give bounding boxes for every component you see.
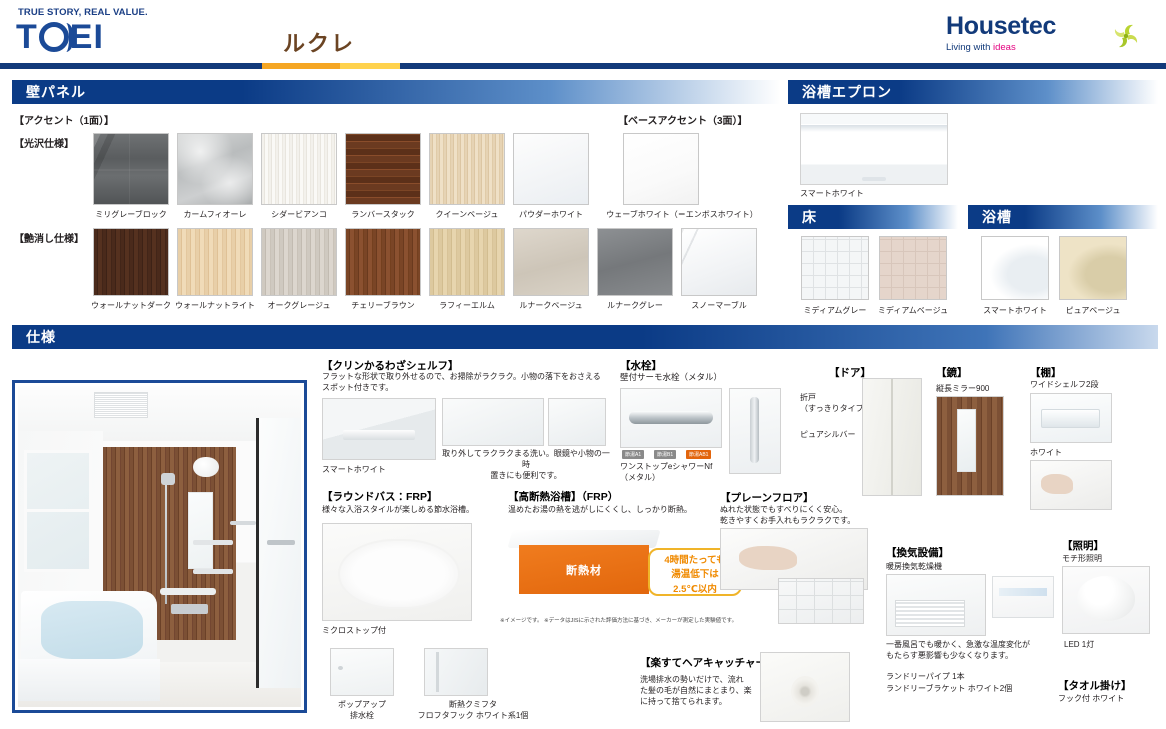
header-divider: [0, 63, 1166, 69]
section-header-bath-apron: 浴槽エプロン: [788, 80, 1158, 104]
toei-logo-suffix: EI: [70, 20, 104, 54]
bathroom-render: [18, 386, 301, 707]
rack-color-label: ホワイト: [1030, 448, 1062, 459]
swatch-gloss-0-label: ミリグレーブロック: [83, 209, 179, 220]
shelf-title: 【クリンかるわざシェルフ】: [322, 358, 459, 373]
plain-floor-desc: ぬれた状態でもすべりにくく安心。 乾きやすくお手入れもラクラクです。: [720, 505, 855, 527]
render-towel-bar: [230, 521, 255, 525]
render-faucet: [171, 604, 208, 614]
swatch-gloss-1[interactable]: [177, 133, 253, 205]
popup-drain-caption: ポップアップ 排水栓: [320, 699, 404, 721]
ventilation-desc: 一番風呂でも暖かく、急激な温度変化が もたらす悪影響も少なくなります。: [886, 640, 1030, 662]
swatch-matte-3-label: チェリーブラウン: [335, 300, 431, 311]
faucet-subtitle: 壁付サーモ水栓（メタル）: [620, 372, 722, 383]
insulated-tub-label: 断熱材: [510, 562, 658, 578]
insulated-lid-caption: 断熱クミフタ フロフタフック ホワイト系1個: [398, 699, 548, 721]
render-mirror: [188, 492, 213, 569]
swatch-gloss-4[interactable]: [429, 133, 505, 205]
plain-floor-title: 【プレーンフロア】: [720, 490, 814, 505]
swatch-matte-base-0-label: スノーマーブル: [671, 300, 767, 311]
faucet-shower-label: ワンストップeシャワーNf （メタル）: [620, 462, 712, 484]
swatch-gloss-4-label: クイーンベージュ: [419, 209, 515, 220]
render-shelf-upper: [193, 540, 233, 545]
series-title: ルクレ: [283, 26, 355, 58]
swatch-matte-6-label: ルナークグレー: [587, 300, 683, 311]
rack-name-label: ワイドシェルフ2段: [1030, 380, 1098, 391]
render-door-handle: [267, 540, 295, 544]
swatch-gloss-5[interactable]: [513, 133, 589, 205]
swatch-gloss-base-0[interactable]: [623, 133, 699, 205]
ventilation-accessory-1: ランドリーパイプ 1本: [886, 672, 965, 683]
shelf-photo-detail-1[interactable]: [442, 398, 544, 446]
swatch-bathtub-1-label: ピュアベージュ: [1049, 305, 1137, 316]
towel-title: 【タオル掛け】: [1058, 678, 1132, 693]
lighting-spec: LED 1灯: [1064, 640, 1094, 651]
shelf-color-label: スマートホワイト: [322, 464, 386, 475]
popup-drain-photo[interactable]: [330, 648, 394, 696]
door-type-label: 折戸 （すっきりタイプ）: [800, 393, 872, 415]
toei-logo: T EI: [16, 20, 104, 54]
housetec-pinwheel-icon: [1106, 16, 1146, 56]
swatch-matte-4-label: ラフィーエルム: [419, 300, 515, 311]
matte-label: 【艶消し仕様】: [14, 230, 84, 245]
toei-logo-o-icon: [39, 22, 69, 52]
swatch-gloss-1-label: カームフィオーレ: [167, 209, 263, 220]
round-bath-desc: 様々な入浴スタイルが楽しめる節水浴槽。: [322, 505, 474, 516]
round-bath-title: 【ラウンドバス：FRP】: [322, 489, 438, 504]
swatch-matte-5[interactable]: [513, 228, 589, 296]
render-ceiling-vent: [94, 392, 148, 418]
insulated-tub-illustration: 断熱材: [510, 530, 658, 600]
swatch-gloss-0[interactable]: [93, 133, 169, 205]
shelf-desc: フラットな形状で取り外せるので、お掃除がラクラク。小物の落下をおさえる スポット…: [322, 372, 618, 394]
swatch-floor-1[interactable]: [879, 236, 947, 300]
mirror-photo[interactable]: [936, 396, 1004, 496]
faucet-chip-1: 節湯B1: [654, 450, 676, 459]
apron-label: スマートホワイト: [800, 188, 864, 199]
swatch-matte-4[interactable]: [429, 228, 505, 296]
round-bath-caption: ミクロストップ付: [322, 625, 386, 636]
swatch-matte-6[interactable]: [597, 228, 673, 296]
insulated-footnote: ※イメージです。 ※データはJISに示された評価方法に基づき、メーカーが測定した…: [500, 617, 737, 625]
bathroom-render-frame[interactable]: [12, 380, 307, 713]
insulated-desc: 温めたお湯の熱を逃がしにくくし、しっかり断熱。: [508, 505, 692, 516]
round-bath-photo[interactable]: [322, 523, 472, 621]
hair-catcher-photo[interactable]: [760, 652, 850, 722]
ventilation-title: 【換気設備】: [886, 545, 949, 560]
gloss-label: 【光沢仕様】: [14, 135, 74, 150]
faucet-chip-2: 節湯AB1: [686, 450, 711, 459]
section-header-floor: 床: [788, 205, 958, 229]
swatch-matte-2-label: オークグレージュ: [251, 300, 347, 311]
mirror-title: 【鏡】: [936, 365, 968, 380]
swatch-gloss-5-label: パウダーホワイト: [503, 209, 599, 220]
shower-head-photo[interactable]: [729, 388, 781, 474]
swatch-floor-0-label: ミディアムグレー: [791, 305, 879, 316]
faucet-photo[interactable]: [620, 388, 722, 448]
swatch-gloss-2[interactable]: [261, 133, 337, 205]
accent-label: 【アクセント（1面）】: [14, 112, 114, 127]
swatch-bathtub-0[interactable]: [981, 236, 1049, 300]
swatch-matte-1-label: ウォールナットライト: [167, 300, 263, 311]
ventilation-control-panel-photo[interactable]: [992, 576, 1054, 618]
housetec-tagline-2: ideas: [993, 42, 1016, 53]
hair-catcher-title: 【楽すてヘアキャッチャー】: [640, 655, 777, 670]
swatch-floor-0[interactable]: [801, 236, 869, 300]
rack-photo-detail[interactable]: [1030, 460, 1112, 510]
insulated-title: 【高断熱浴槽】（FRP）: [508, 489, 618, 504]
rack-photo[interactable]: [1030, 393, 1112, 443]
render-grab-bar: [160, 588, 217, 594]
swatch-matte-0-label: ウォールナットダーク: [83, 300, 179, 311]
render-shelf-lower: [193, 569, 233, 574]
render-ceiling-light: [193, 457, 218, 478]
shelf-photo-main[interactable]: [322, 398, 436, 460]
shelf-photo-detail-2[interactable]: [548, 398, 606, 446]
swatch-bathtub-0-label: スマートホワイト: [971, 305, 1059, 316]
swatch-gloss-2-label: シダービアンコ: [251, 209, 347, 220]
render-bathtub-apron: [18, 659, 160, 701]
section-header-bathtub: 浴槽: [968, 205, 1158, 229]
insulated-lid-photo[interactable]: [424, 648, 488, 696]
section-header-wall-panel: 壁パネル: [12, 80, 780, 104]
swatch-matte-5-label: ルナークベージュ: [503, 300, 599, 311]
toei-logo-prefix: T: [16, 20, 38, 54]
swatch-gloss-3[interactable]: [345, 133, 421, 205]
swatch-gloss-base-0-label: ウェーブホワイト（＝エンボスホワイト）: [602, 209, 762, 220]
door-photo[interactable]: [862, 378, 922, 496]
swatch-matte-2[interactable]: [261, 228, 337, 296]
swatch-matte-3[interactable]: [345, 228, 421, 296]
swatch-matte-0[interactable]: [93, 228, 169, 296]
faucet-chip-0: 節湯A1: [622, 450, 644, 459]
ventilation-fan-photo[interactable]: [886, 574, 986, 636]
render-shower-bar: [165, 476, 167, 604]
render-door: [256, 418, 301, 688]
swatch-matte-1[interactable]: [177, 228, 253, 296]
ventilation-accessory-2: ランドリーブラケット ホワイト2個: [886, 684, 1012, 695]
lighting-name: モチ形照明: [1062, 554, 1102, 565]
swatch-gloss-3-label: ランバースタック: [335, 209, 431, 220]
plain-floor-texture-photo[interactable]: [778, 578, 864, 624]
door-color-label: ピュアシルバー: [800, 430, 856, 441]
mirror-name-label: 縦長ミラー900: [936, 384, 989, 395]
swatch-floor-1-label: ミディアムベージュ: [869, 305, 957, 316]
faucet-title: 【水栓】: [620, 358, 662, 373]
render-window: [24, 450, 92, 572]
toei-tagline: TRUE STORY, REAL VALUE.: [18, 7, 148, 18]
swatch-bathtub-1[interactable]: [1059, 236, 1127, 300]
lighting-photo[interactable]: [1062, 566, 1150, 634]
lighting-title: 【照明】: [1062, 538, 1104, 553]
render-shower-head: [161, 473, 175, 486]
apron-photo[interactable]: [800, 113, 948, 185]
render-bath-water: [41, 601, 143, 659]
housetec-logo: Housetec Living with ideas: [946, 14, 1146, 53]
rack-title: 【棚】: [1030, 365, 1062, 380]
housetec-tagline-1: Living with: [946, 42, 993, 53]
base-accent-label: 【ベースアクセント（3面）】: [618, 112, 748, 127]
ventilation-subtitle: 暖房換気乾燥機: [886, 562, 942, 573]
section-header-spec: 仕様: [12, 325, 1158, 349]
hair-catcher-desc: 洗場排水の勢いだけで、流れ た髪の毛が自然にまとまり、楽 に持って捨てられます。: [640, 675, 752, 707]
shelf-note: 取り外してラクラクまる洗い。眼鏡や小物の一時 置きにも便利です。: [442, 449, 610, 481]
towel-spec: フック付 ホワイト: [1058, 694, 1124, 705]
page-header: TRUE STORY, REAL VALUE. T EI ルクレ Housete…: [0, 0, 1166, 70]
swatch-matte-base-0[interactable]: [681, 228, 757, 296]
